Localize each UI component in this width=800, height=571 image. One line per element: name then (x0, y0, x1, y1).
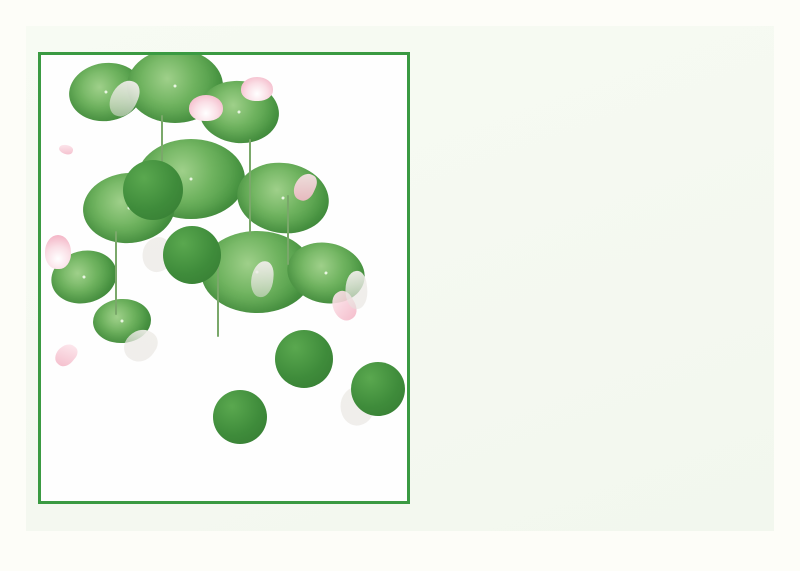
illustration-frame (38, 52, 410, 504)
lotus-stem (249, 139, 251, 235)
zodiac-circle-snake[interactable] (163, 226, 221, 284)
koi-fish (82, 226, 177, 313)
lotus-flower (189, 95, 223, 121)
koi-lotus-illustration (41, 55, 407, 501)
zodiac-circle-tiger[interactable] (213, 390, 267, 444)
result-banner (26, 533, 774, 563)
lotus-petal (51, 340, 80, 370)
zodiac-circle-pig[interactable] (123, 160, 183, 220)
lotus-flower (241, 77, 273, 101)
lotus-stem (287, 195, 289, 265)
zodiac-circle-dragon[interactable] (351, 362, 405, 416)
zodiac-circle-goat[interactable] (275, 330, 333, 388)
koi-fish (116, 321, 223, 425)
lotus-stem (217, 263, 219, 337)
lotus-flower (45, 235, 71, 269)
lotus-leaf (232, 156, 334, 240)
lottery-poster (0, 0, 800, 571)
